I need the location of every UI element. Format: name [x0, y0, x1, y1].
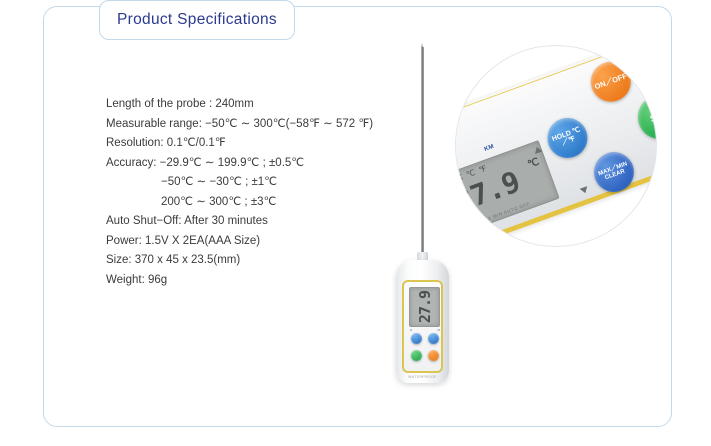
device-max-min-button[interactable]	[428, 333, 439, 344]
spec-line-accuracy-high-range: 200℃ ∼ 300℃ ; ±3℃	[106, 193, 406, 213]
device-on-off-button[interactable]	[428, 350, 439, 361]
device-button-label-left: H	[410, 328, 412, 332]
device-hold-button[interactable]	[411, 333, 422, 344]
specification-list: Length of the probe : 240mm Measurable r…	[106, 95, 406, 290]
lcd-unit-label: ℃	[526, 157, 540, 171]
spec-line-resolution: Resolution: 0.1℃/0.1℉	[106, 134, 406, 154]
device-button-labels: H M	[410, 328, 440, 332]
magnifier-callout-circle: KM KM-01 MAX ℃ ℉ 27.9 ℃ HOLD MAX MIN AUT…	[455, 45, 657, 247]
max-min-clear-button[interactable]: MAX／MIN CLEAR	[588, 147, 639, 198]
thermometer-device-body: 27.9 H M WATERPROOF	[396, 260, 449, 383]
device-lcd-value: 27.9	[416, 291, 434, 323]
spec-line-measurable-range: Measurable range: −50℃ ∼ 300℃(−58℉ ∼ 572…	[106, 115, 406, 135]
spec-line-accuracy-primary: Accuracy: −29.9℃ ∼ 199.9℃ ; ±0.5℃	[106, 154, 406, 174]
page-title: Product Specifications	[117, 11, 277, 29]
device-set-button[interactable]	[411, 350, 422, 361]
set-button[interactable]: SET	[632, 89, 657, 145]
on-off-button[interactable]: ON／OFF	[585, 56, 636, 107]
hold-celsius-fahrenheit-button[interactable]: HOLD ℃／℉	[542, 112, 593, 163]
device-faceplate: 27.9 H M	[402, 280, 443, 373]
magnified-device-body: KM KM-01 MAX ℃ ℉ 27.9 ℃ HOLD MAX MIN AUT…	[455, 45, 657, 247]
device-lcd-screen: 27.9	[409, 287, 440, 327]
spec-line-auto-shut-off: Auto Shut−Off: After 30 minutes	[106, 212, 406, 232]
probe-needle	[421, 47, 424, 260]
magnified-lcd-screen: MAX ℃ ℉ 27.9 ℃ HOLD MAX MIN AUTO OFF	[455, 140, 560, 236]
arrow-down-icon	[580, 186, 590, 194]
brand-logo-inset: KM	[484, 144, 495, 153]
spec-line-probe-length: Length of the probe : 240mm	[106, 95, 406, 115]
panel-title-tab: Product Specifications	[99, 0, 295, 40]
magnified-control-panel: KM KM-01 MAX ℃ ℉ 27.9 ℃ HOLD MAX MIN AUT…	[455, 45, 657, 247]
device-footer-label: WATERPROOF	[396, 375, 449, 379]
spec-line-weight: Weight: 96g	[106, 271, 406, 291]
device-button-label-right: M	[438, 328, 441, 332]
spec-line-power: Power: 1.5V X 2EA(AAA Size)	[106, 232, 406, 252]
spec-line-size: Size: 370 x 45 x 23.5(mm)	[106, 251, 406, 271]
spec-line-accuracy-low-range: −50℃ ∼ −30℃ ; ±1℃	[106, 173, 406, 193]
